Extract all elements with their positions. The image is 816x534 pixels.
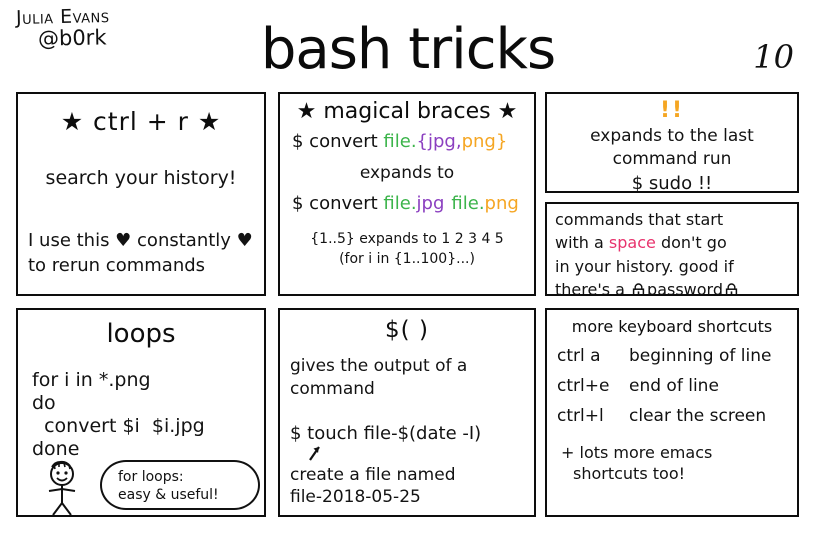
space-line-2-pre: with a: [555, 233, 609, 252]
bang-bang-line-1: expands to the last: [547, 125, 797, 147]
speech-bubble: for loops: easy & useful!: [100, 460, 260, 510]
loops-code-line-2: do: [18, 392, 264, 415]
page-title: bash tricks: [0, 22, 816, 78]
panel-ctrl-r-title: ★ ctrl + r ★: [18, 108, 264, 136]
bang-bang-line-2: command run: [547, 148, 797, 170]
braces-cmd2-prompt: $ convert: [292, 193, 383, 214]
subst-arrow-row: [280, 446, 534, 462]
subst-line-4: file-2018-05-25: [280, 486, 534, 508]
space-line-1: commands that start: [547, 209, 797, 230]
shortcut-action: end of line: [629, 376, 787, 396]
panel-keyboard-shortcuts: more keyboard shortcuts ctrl a beginning…: [545, 308, 799, 517]
page-number: 10: [753, 38, 794, 76]
panel-braces-expands-label: expands to: [280, 162, 534, 184]
panel-ctrl-r-line-3: to rerun commands: [18, 254, 264, 278]
shortcut-key: ctrl+l: [557, 406, 629, 426]
shortcut-key: ctrl a: [557, 346, 629, 366]
panel-ctrl-r-line-2: I use this ♥ constantly ♥: [18, 229, 264, 253]
shortcuts-footnote-1: + lots more emacs: [547, 442, 797, 463]
bubble-line-2: easy & useful!: [102, 487, 258, 505]
braces-cmd1-base: file.: [383, 131, 416, 152]
braces-cmd1-prompt: $ convert: [292, 131, 383, 152]
panel-magical-braces: ★ magical braces ★ $ convert file.{jpg,p…: [278, 92, 536, 296]
space-line-2-post: don't go: [656, 233, 727, 252]
subst-line-3: create a file named: [280, 464, 534, 486]
braces-cmd2-file1-base: file.: [383, 193, 416, 214]
panel-bang-bang: !! expands to the last command run $ sud…: [545, 92, 799, 193]
panel-leading-space: commands that start with a space don't g…: [545, 202, 799, 296]
lock-icon: [632, 281, 645, 295]
panel-subst-title: $( ): [280, 318, 534, 343]
panel-ctrl-r-line-1: search your history!: [18, 166, 264, 191]
panel-braces-note-2: (for i in {1..100}...): [280, 250, 534, 268]
lock-icon: [725, 281, 738, 295]
loops-code-line-3: convert $i $i.jpg: [18, 415, 264, 438]
stick-figure-with-bubble: for loops: easy & useful!: [40, 458, 260, 516]
space-line-3: in your history. good if: [547, 256, 797, 277]
shortcut-row: ctrl+l clear the screen: [547, 406, 797, 426]
panel-command-substitution: $( ) gives the output of a command $ tou…: [278, 308, 536, 517]
subst-command: $ touch file-$(date -I): [280, 422, 534, 446]
zine-page: Julia Evans @b0rk bash tricks 10 ★ ctrl …: [0, 0, 816, 534]
panel-braces-command-1: $ convert file.{jpg,png}: [280, 130, 534, 154]
space-line-4-word: password: [647, 280, 723, 296]
space-line-4-pre: there's a: [555, 280, 630, 296]
shortcut-row: ctrl a beginning of line: [547, 346, 797, 366]
braces-cmd2-file2-base: file.: [451, 193, 484, 214]
braces-cmd2-file1-ext: jpg: [417, 193, 445, 214]
bang-bang-example: $ sudo !!: [547, 172, 797, 193]
panel-braces-note-1: {1..5} expands to 1 2 3 4 5: [280, 230, 534, 248]
shortcut-key: ctrl+e: [557, 376, 629, 396]
space-line-2: with a space don't go: [547, 232, 797, 253]
panel-braces-command-2: $ convert file.jpgfile.png: [280, 192, 534, 216]
shortcut-action: clear the screen: [629, 406, 787, 426]
panel-braces-title: ★ magical braces ★: [280, 100, 534, 124]
panel-loops: loops for i in *.png do convert $i $i.jp…: [16, 308, 266, 517]
braces-cmd1-png: png: [462, 131, 496, 152]
loops-code-line-1: for i in *.png: [18, 369, 264, 392]
panel-shortcuts-title: more keyboard shortcuts: [547, 318, 797, 336]
bang-bang-heading: !!: [547, 98, 797, 123]
subst-line-2: command: [280, 378, 534, 400]
shortcut-row: ctrl+e end of line: [547, 376, 797, 396]
shortcut-action: beginning of line: [629, 346, 787, 366]
space-keyword: space: [609, 233, 656, 252]
braces-cmd2-file2-ext: png: [485, 193, 519, 214]
braces-cmd1-jpg: jpg: [428, 131, 456, 152]
up-arrow-icon: [306, 444, 324, 462]
panel-loops-title: loops: [18, 320, 264, 349]
shortcuts-footnote-2: shortcuts too!: [547, 463, 797, 484]
subst-line-1: gives the output of a: [280, 355, 534, 377]
space-line-4: there's a password: [547, 279, 797, 296]
braces-cmd1-brace-close: }: [496, 131, 507, 152]
stick-figure-icon: [40, 458, 98, 516]
bubble-line-1: for loops:: [102, 469, 258, 487]
panel-ctrl-r: ★ ctrl + r ★ search your history! I use …: [16, 92, 266, 296]
braces-cmd1-brace-open: {: [417, 131, 428, 152]
